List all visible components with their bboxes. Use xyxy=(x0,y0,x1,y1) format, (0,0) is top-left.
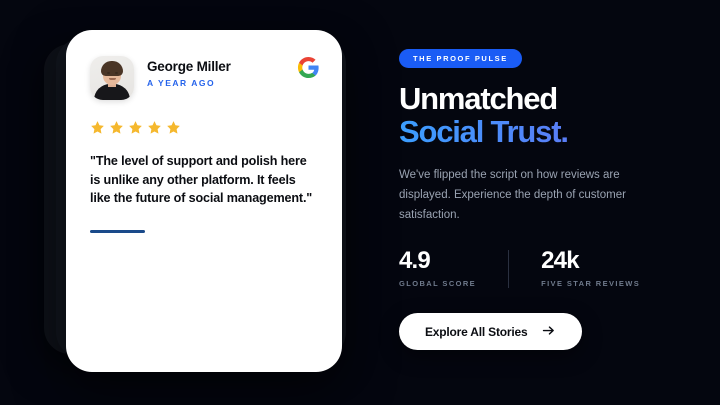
avatar-hair xyxy=(101,61,123,76)
stat-value: 4.9 xyxy=(399,248,476,274)
copy-column: THE PROOF PULSE Unmatched Social Trust. … xyxy=(399,0,720,405)
reviewer-meta: George Miller A YEAR AGO xyxy=(147,56,231,88)
stat-label: GLOBAL SCORE xyxy=(399,279,476,288)
star-icon xyxy=(128,120,143,135)
avatar-eye-left xyxy=(107,72,110,74)
explore-all-stories-button[interactable]: Explore All Stories xyxy=(399,313,582,350)
review-header: George Miller A YEAR AGO xyxy=(90,56,318,100)
star-icon xyxy=(166,120,181,135)
arrow-right-icon xyxy=(541,323,556,341)
description-text: We've flipped the script on how reviews … xyxy=(399,165,667,225)
stats-divider xyxy=(508,250,509,288)
cta-label: Explore All Stories xyxy=(425,325,527,339)
star-icon xyxy=(147,120,162,135)
hero-section: George Miller A YEAR AGO xyxy=(0,0,720,405)
accent-rule xyxy=(90,230,145,234)
stat-five-star-reviews: 24k FIVE STAR REVIEWS xyxy=(541,248,640,288)
star-rating xyxy=(90,120,318,135)
eyebrow-badge: THE PROOF PULSE xyxy=(399,49,522,68)
headline-line-1: Unmatched xyxy=(399,82,720,115)
star-icon xyxy=(109,120,124,135)
testimonial-card-stack: George Miller A YEAR AGO xyxy=(0,0,360,405)
reviewer-name: George Miller xyxy=(147,59,231,74)
star-icon xyxy=(90,120,105,135)
stat-global-score: 4.9 GLOBAL SCORE xyxy=(399,248,476,288)
review-timestamp: A YEAR AGO xyxy=(147,78,231,88)
avatar-eye-right xyxy=(115,72,118,74)
testimonial-card[interactable]: George Miller A YEAR AGO xyxy=(66,30,342,372)
avatar-mouth xyxy=(109,78,116,80)
stat-value: 24k xyxy=(541,248,640,274)
avatar xyxy=(90,56,134,100)
stat-label: FIVE STAR REVIEWS xyxy=(541,279,640,288)
headline-line-2: Social Trust. xyxy=(399,115,720,149)
google-logo-icon xyxy=(297,56,320,79)
stats-row: 4.9 GLOBAL SCORE 24k FIVE STAR REVIEWS xyxy=(399,248,720,288)
review-quote: "The level of support and polish here is… xyxy=(90,152,314,208)
page-title: Unmatched Social Trust. xyxy=(399,82,720,149)
